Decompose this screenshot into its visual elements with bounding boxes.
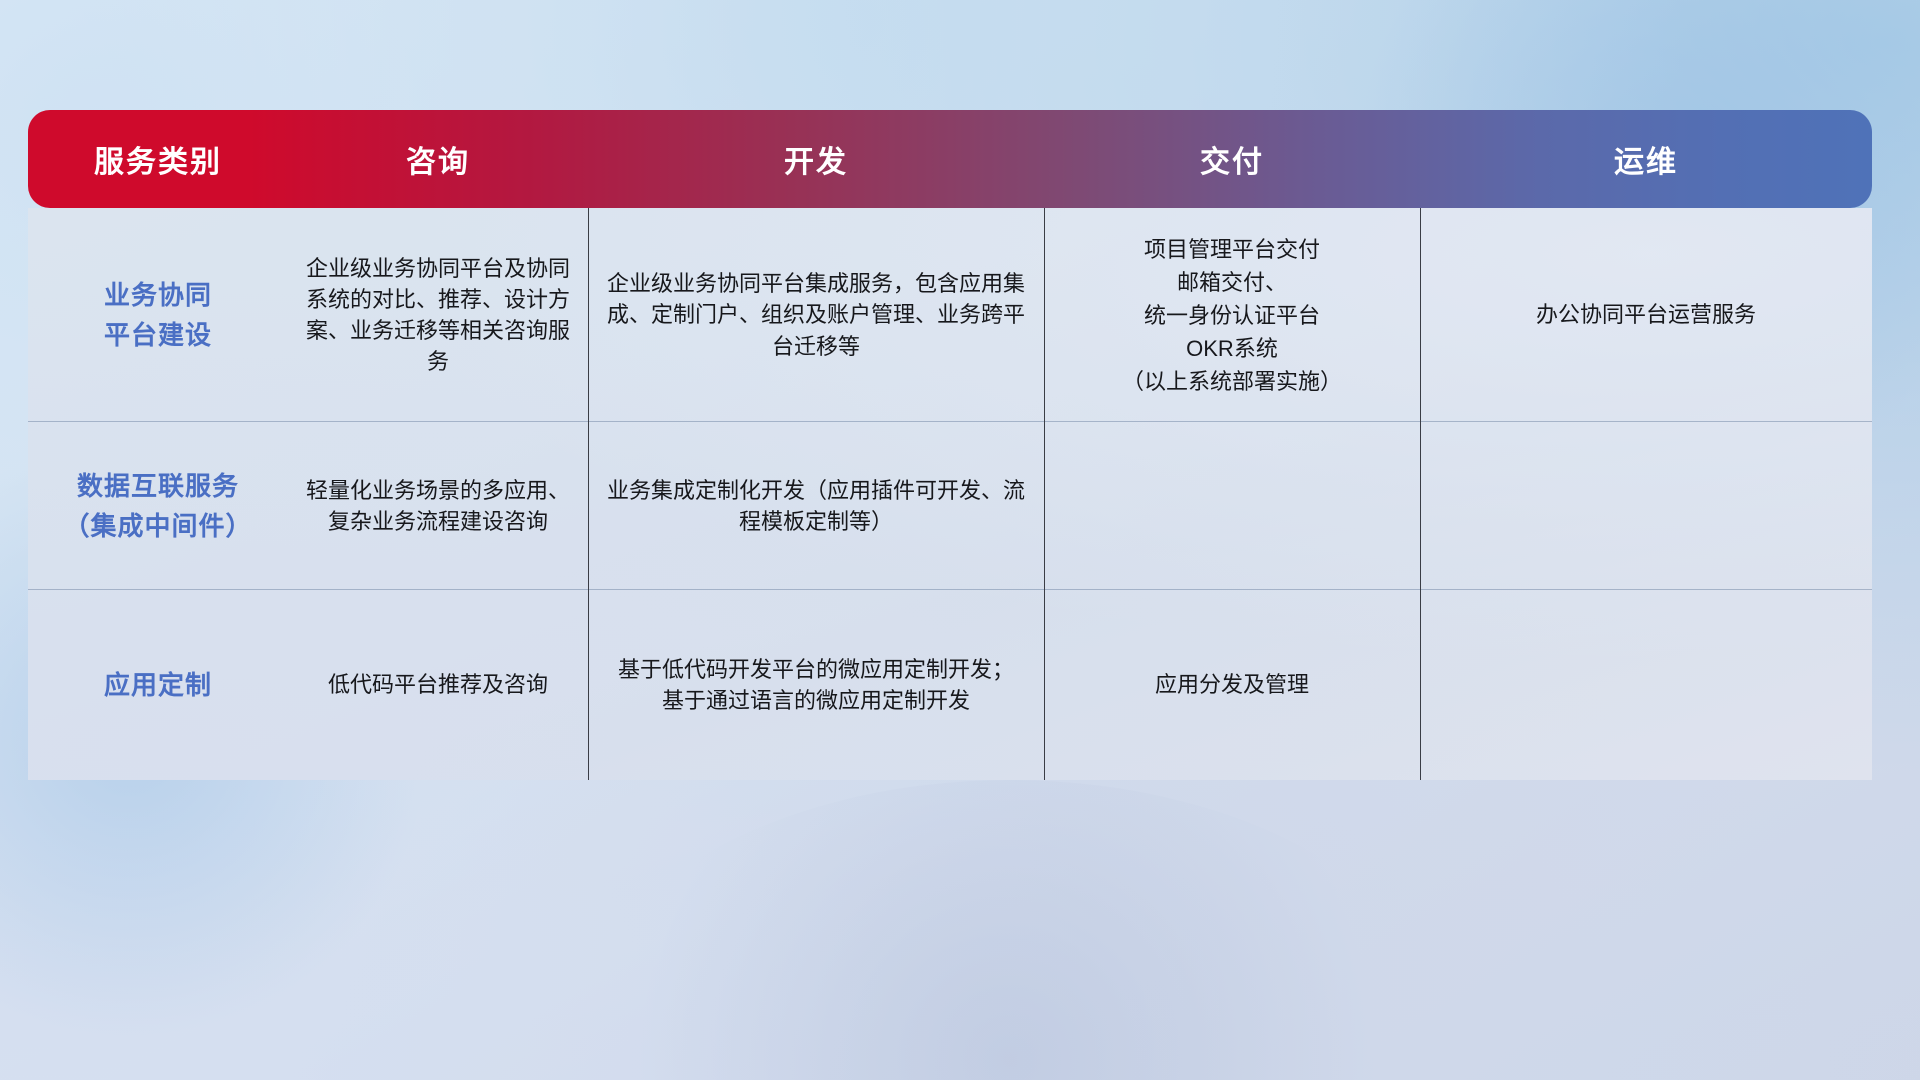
consulting-text: 轻量化业务场景的多应用、复杂业务流程建设咨询 [298, 475, 578, 537]
row-category-cell: 业务协同平台建设 [28, 208, 288, 422]
row-operations-cell [1420, 590, 1872, 780]
row-consulting-cell: 低代码平台推荐及咨询 [288, 590, 588, 780]
column-header-consulting: 咨询 [288, 137, 588, 181]
column-divider-development-delivery [1044, 208, 1045, 780]
operations-text: 办公协同平台运营服务 [1536, 299, 1756, 330]
row-delivery-cell: 项目管理平台交付邮箱交付、统一身份认证平台OKR系统（以上系统部署实施） [1044, 208, 1420, 422]
development-text: 企业级业务协同平台集成服务，包含应用集成、定制门户、组织及账户管理、业务跨平台迁… [598, 268, 1034, 362]
development-text: 基于低代码开发平台的微应用定制开发；基于通过语言的微应用定制开发 [618, 654, 1014, 716]
row-category-label: 应用定制 [104, 665, 212, 705]
delivery-text: 应用分发及管理 [1155, 669, 1309, 700]
column-header-operations: 运维 [1420, 137, 1872, 181]
delivery-text: 项目管理平台交付邮箱交付、统一身份认证平台OKR系统（以上系统部署实施） [1122, 233, 1342, 398]
row-operations-cell: 办公协同平台运营服务 [1420, 208, 1872, 422]
row-development-cell: 企业级业务协同平台集成服务，包含应用集成、定制门户、组织及账户管理、业务跨平台迁… [588, 208, 1044, 422]
table-body: 业务协同平台建设 企业级业务协同平台及协同系统的对比、推荐、设计方案、业务迁移等… [28, 208, 1872, 780]
column-divider-delivery-operations [1420, 208, 1421, 780]
development-text: 业务集成定制化开发（应用插件可开发、流程模板定制等） [598, 475, 1034, 537]
row-delivery-cell [1044, 422, 1420, 590]
column-header-delivery: 交付 [1044, 137, 1420, 181]
row-delivery-cell: 应用分发及管理 [1044, 590, 1420, 780]
column-header-development: 开发 [588, 137, 1044, 181]
row-development-cell: 业务集成定制化开发（应用插件可开发、流程模板定制等） [588, 422, 1044, 590]
service-matrix-table: 服务类别 咨询 开发 交付 运维 业务协同平台建设 企业级业务协同平台及协同系统… [28, 110, 1872, 780]
row-category-cell: 数据互联服务（集成中间件） [28, 422, 288, 590]
row-category-label: 数据互联服务（集成中间件） [63, 466, 252, 547]
table-row: 应用定制 低代码平台推荐及咨询 基于低代码开发平台的微应用定制开发；基于通过语言… [28, 590, 1872, 780]
table-row: 数据互联服务（集成中间件） 轻量化业务场景的多应用、复杂业务流程建设咨询 业务集… [28, 422, 1872, 590]
row-consulting-cell: 轻量化业务场景的多应用、复杂业务流程建设咨询 [288, 422, 588, 590]
row-development-cell: 基于低代码开发平台的微应用定制开发；基于通过语言的微应用定制开发 [588, 590, 1044, 780]
row-operations-cell [1420, 422, 1872, 590]
row-category-cell: 应用定制 [28, 590, 288, 780]
column-divider-consulting-development [588, 208, 589, 780]
table-row: 业务协同平台建设 企业级业务协同平台及协同系统的对比、推荐、设计方案、业务迁移等… [28, 208, 1872, 422]
row-consulting-cell: 企业级业务协同平台及协同系统的对比、推荐、设计方案、业务迁移等相关咨询服务 [288, 208, 588, 422]
row-category-label: 业务协同平台建设 [104, 275, 212, 356]
table-header-row: 服务类别 咨询 开发 交付 运维 [28, 110, 1872, 208]
consulting-text: 低代码平台推荐及咨询 [328, 669, 548, 700]
column-header-service-category: 服务类别 [28, 137, 288, 181]
consulting-text: 企业级业务协同平台及协同系统的对比、推荐、设计方案、业务迁移等相关咨询服务 [298, 253, 578, 378]
